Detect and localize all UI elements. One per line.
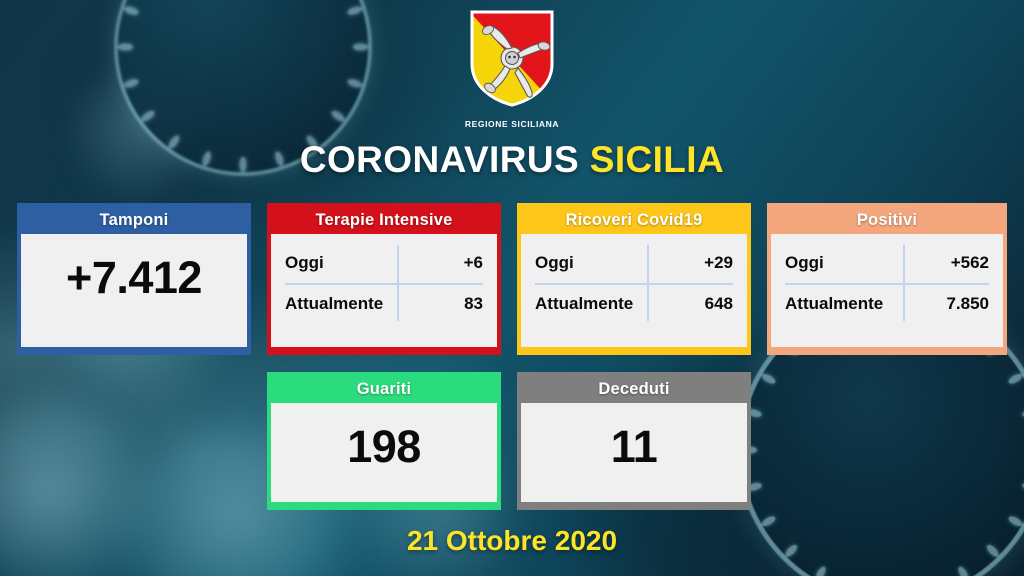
column-divider bbox=[647, 245, 649, 321]
stat-card-deceduti: Deceduti 11 bbox=[517, 372, 751, 510]
row-value: 648 bbox=[659, 294, 733, 314]
virus-spike-icon bbox=[1007, 372, 1023, 386]
crest-caption: REGIONE SICILIANA bbox=[465, 119, 559, 129]
table-row: Oggi +29 bbox=[535, 242, 733, 283]
row-divider bbox=[785, 283, 989, 285]
column-divider bbox=[397, 245, 399, 321]
stat-value: +7.412 bbox=[21, 252, 247, 304]
card-title: Tamponi bbox=[21, 207, 247, 234]
virus-spike-icon bbox=[814, 565, 828, 576]
table-row: Attualmente 7.850 bbox=[785, 283, 989, 324]
card-title: Positivi bbox=[771, 207, 1003, 234]
stat-card-terapie-intensive: Terapie Intensive Oggi +6 Attualmente 83 bbox=[267, 203, 501, 355]
row-label: Oggi bbox=[285, 253, 409, 273]
virus-spike-icon bbox=[760, 372, 776, 386]
card-title: Deceduti bbox=[521, 376, 747, 403]
row-divider bbox=[535, 283, 733, 285]
card-body: Oggi +6 Attualmente 83 bbox=[271, 234, 497, 347]
sicily-coat-of-arms-trinacria-icon bbox=[466, 8, 558, 113]
stat-value: 198 bbox=[271, 421, 497, 473]
stat-card-ricoveri: Ricoveri Covid19 Oggi +29 Attualmente 64… bbox=[517, 203, 751, 355]
infographic-canvas: REGIONE SICILIANA CORONAVIRUS SICILIA Ta… bbox=[0, 0, 1024, 576]
title-main: CORONAVIRUS bbox=[300, 139, 579, 180]
row-divider bbox=[285, 283, 483, 285]
row-label: Oggi bbox=[785, 253, 915, 273]
card-title: Terapie Intensive bbox=[271, 207, 497, 234]
page-title: CORONAVIRUS SICILIA bbox=[0, 139, 1024, 181]
card-body: Oggi +562 Attualmente 7.850 bbox=[771, 234, 1003, 347]
stat-card-guariti: Guariti 198 bbox=[267, 372, 501, 510]
row-label: Attualmente bbox=[285, 294, 409, 314]
report-date: 21 Ottobre 2020 bbox=[0, 525, 1024, 557]
card-body: 11 bbox=[521, 403, 747, 502]
table-row: Oggi +562 bbox=[785, 242, 989, 283]
table-row: Oggi +6 bbox=[285, 242, 483, 283]
regional-crest-block: REGIONE SICILIANA bbox=[0, 8, 1024, 129]
row-label: Attualmente bbox=[785, 294, 915, 314]
stat-card-tamponi: Tamponi +7.412 bbox=[17, 203, 251, 355]
stat-value: 11 bbox=[521, 421, 747, 473]
table-row: Attualmente 648 bbox=[535, 283, 733, 324]
title-accent: SICILIA bbox=[590, 139, 724, 180]
card-body: Oggi +29 Attualmente 648 bbox=[521, 234, 747, 347]
card-title: Guariti bbox=[271, 376, 497, 403]
card-body: 198 bbox=[271, 403, 497, 502]
row-value: 7.850 bbox=[915, 294, 989, 314]
row-value: +6 bbox=[409, 253, 483, 273]
stat-table: Oggi +562 Attualmente 7.850 bbox=[785, 242, 989, 324]
row-value: 83 bbox=[409, 294, 483, 314]
table-row: Attualmente 83 bbox=[285, 283, 483, 324]
card-body: +7.412 bbox=[21, 234, 247, 347]
row-value: +562 bbox=[915, 253, 989, 273]
column-divider bbox=[903, 245, 905, 321]
stat-table: Oggi +6 Attualmente 83 bbox=[285, 242, 483, 324]
virus-spike-icon bbox=[956, 565, 970, 576]
row-value: +29 bbox=[659, 253, 733, 273]
card-title: Ricoveri Covid19 bbox=[521, 207, 747, 234]
stat-card-positivi: Positivi Oggi +562 Attualmente 7.850 bbox=[767, 203, 1007, 355]
row-label: Attualmente bbox=[535, 294, 659, 314]
stat-table: Oggi +29 Attualmente 648 bbox=[535, 242, 733, 324]
row-label: Oggi bbox=[535, 253, 659, 273]
